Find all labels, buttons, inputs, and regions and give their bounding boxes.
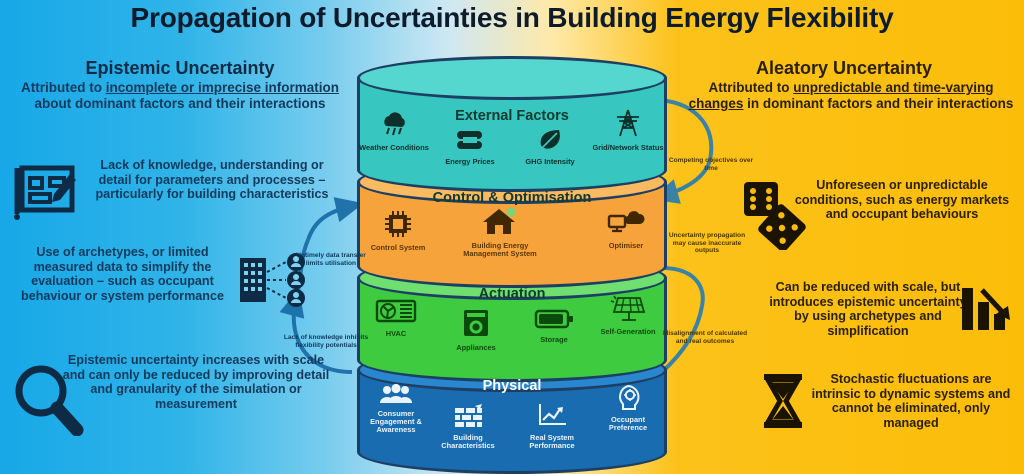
node-weather-conditions: Weather Conditions	[357, 112, 431, 152]
node-label: Energy Prices	[433, 158, 507, 166]
node-self-generation: Self-Generation	[591, 294, 665, 336]
node-label: Storage	[517, 336, 591, 344]
microchip-icon	[383, 210, 413, 238]
epistemic-block-2-text: Use of archetypes, or limited measured d…	[10, 245, 235, 303]
epistemic-subtitle-pre: Attributed to	[21, 80, 106, 95]
node-consumer-engagement: Consumer Engagement & Awareness	[359, 384, 433, 435]
node-label: Control System	[361, 244, 435, 252]
epistemic-subtitle-underline: incomplete or imprecise information	[106, 80, 339, 95]
line-graph-icon	[535, 402, 569, 428]
brick-wall-icon	[451, 404, 485, 428]
annotation-untimely-data: Untimely data transfer limits utilisatio…	[288, 252, 374, 267]
page-title: Propagation of Uncertainties in Building…	[0, 2, 1024, 34]
leaf-icon	[537, 128, 563, 152]
external-top-ellipse	[357, 56, 667, 100]
node-building-characteristics: Building Characteristics	[431, 404, 505, 450]
node-label: Weather Conditions	[357, 144, 431, 152]
aleatory-block-2-text: Can be reduced with scale, but introduce…	[762, 280, 974, 338]
node-label: Optimiser	[589, 242, 663, 250]
node-label: Self-Generation	[591, 328, 665, 336]
aleatory-subtitle-post: in dominant factors and their interactio…	[743, 96, 1013, 111]
node-label: Appliances	[439, 344, 513, 352]
infographic-canvas: Propagation of Uncertainties in Building…	[0, 0, 1024, 465]
epistemic-heading: Epistemic Uncertainty	[20, 58, 340, 79]
annotation-uncertainty-propagation: Uncertainty propagation may cause inaccu…	[664, 232, 750, 255]
annotation-competing-objectives: Competing objectives over time	[668, 157, 754, 172]
cloud-computer-icon	[606, 206, 646, 236]
price-tag-icon	[454, 128, 486, 152]
washing-machine-icon	[462, 308, 490, 338]
epistemic-block-1-text: Lack of knowledge, understanding or deta…	[86, 158, 338, 202]
layer-external: External Factors Weather Conditions Ener…	[357, 56, 667, 174]
epistemic-block-3-text: Epistemic uncertainty increases with sca…	[56, 353, 336, 411]
node-optimiser: Optimiser	[589, 206, 663, 250]
pylon-icon	[613, 108, 643, 138]
node-occupant-preference: Occupant Preference	[591, 384, 665, 432]
node-bems: Building Energy Management System	[463, 206, 537, 258]
layered-cylinder: Physical Consumer Engagement & Awareness…	[357, 56, 667, 460]
node-appliances: Appliances	[439, 308, 513, 352]
dice-icon	[740, 180, 808, 255]
people-group-icon	[379, 384, 413, 404]
layer-title-control: Control & Optimisation	[357, 190, 667, 206]
bar-chart-down-icon	[958, 280, 1016, 343]
aleatory-block-1-text: Unforeseen or unpredictable conditions, …	[790, 178, 1014, 222]
node-storage: Storage	[517, 308, 591, 344]
epistemic-subtitle-post: about dominant factors and their interac…	[34, 96, 325, 111]
node-hvac: HVAC	[359, 298, 433, 338]
node-control-system: Control System	[361, 210, 435, 252]
node-label: Building Energy Management System	[463, 242, 537, 258]
smart-home-icon	[480, 206, 520, 236]
node-label: HVAC	[359, 330, 433, 338]
node-label: Consumer Engagement & Awareness	[359, 410, 433, 435]
node-label: Occupant Preference	[591, 416, 665, 432]
blueprint-icon	[14, 160, 84, 227]
rain-cloud-icon	[379, 112, 409, 138]
aleatory-block-3-text: Stochastic fluctuations are intrinsic to…	[806, 372, 1016, 430]
aleatory-heading: Aleatory Uncertainty	[684, 58, 1004, 79]
node-energy-prices: Energy Prices	[433, 128, 507, 166]
node-label: Building Characteristics	[431, 434, 505, 450]
hourglass-icon	[760, 372, 806, 435]
node-label: GHG Intensity	[513, 158, 587, 166]
solar-panel-icon	[610, 294, 646, 322]
node-label: Grid/Network Status	[591, 144, 665, 152]
node-ghg-intensity: GHG Intensity	[513, 128, 587, 166]
air-vent-icon	[375, 298, 417, 324]
magnifier-icon	[10, 362, 84, 441]
annotation-misalignment: Misalignment of calculated and real outc…	[662, 330, 748, 345]
annotation-lack-of-knowledge: Lack of knowledge inhibits flexibility p…	[283, 334, 369, 349]
aleatory-subtitle-pre: Attributed to	[708, 80, 793, 95]
epistemic-subtitle: Attributed to incomplete or imprecise in…	[8, 80, 352, 111]
node-grid-network-status: Grid/Network Status	[591, 108, 665, 152]
battery-icon	[534, 308, 574, 330]
node-label: Real System Performance	[515, 434, 589, 450]
head-gear-icon	[613, 384, 643, 410]
aleatory-subtitle: Attributed to unpredictable and time-var…	[686, 80, 1016, 111]
node-real-system-performance: Real System Performance	[515, 402, 589, 450]
